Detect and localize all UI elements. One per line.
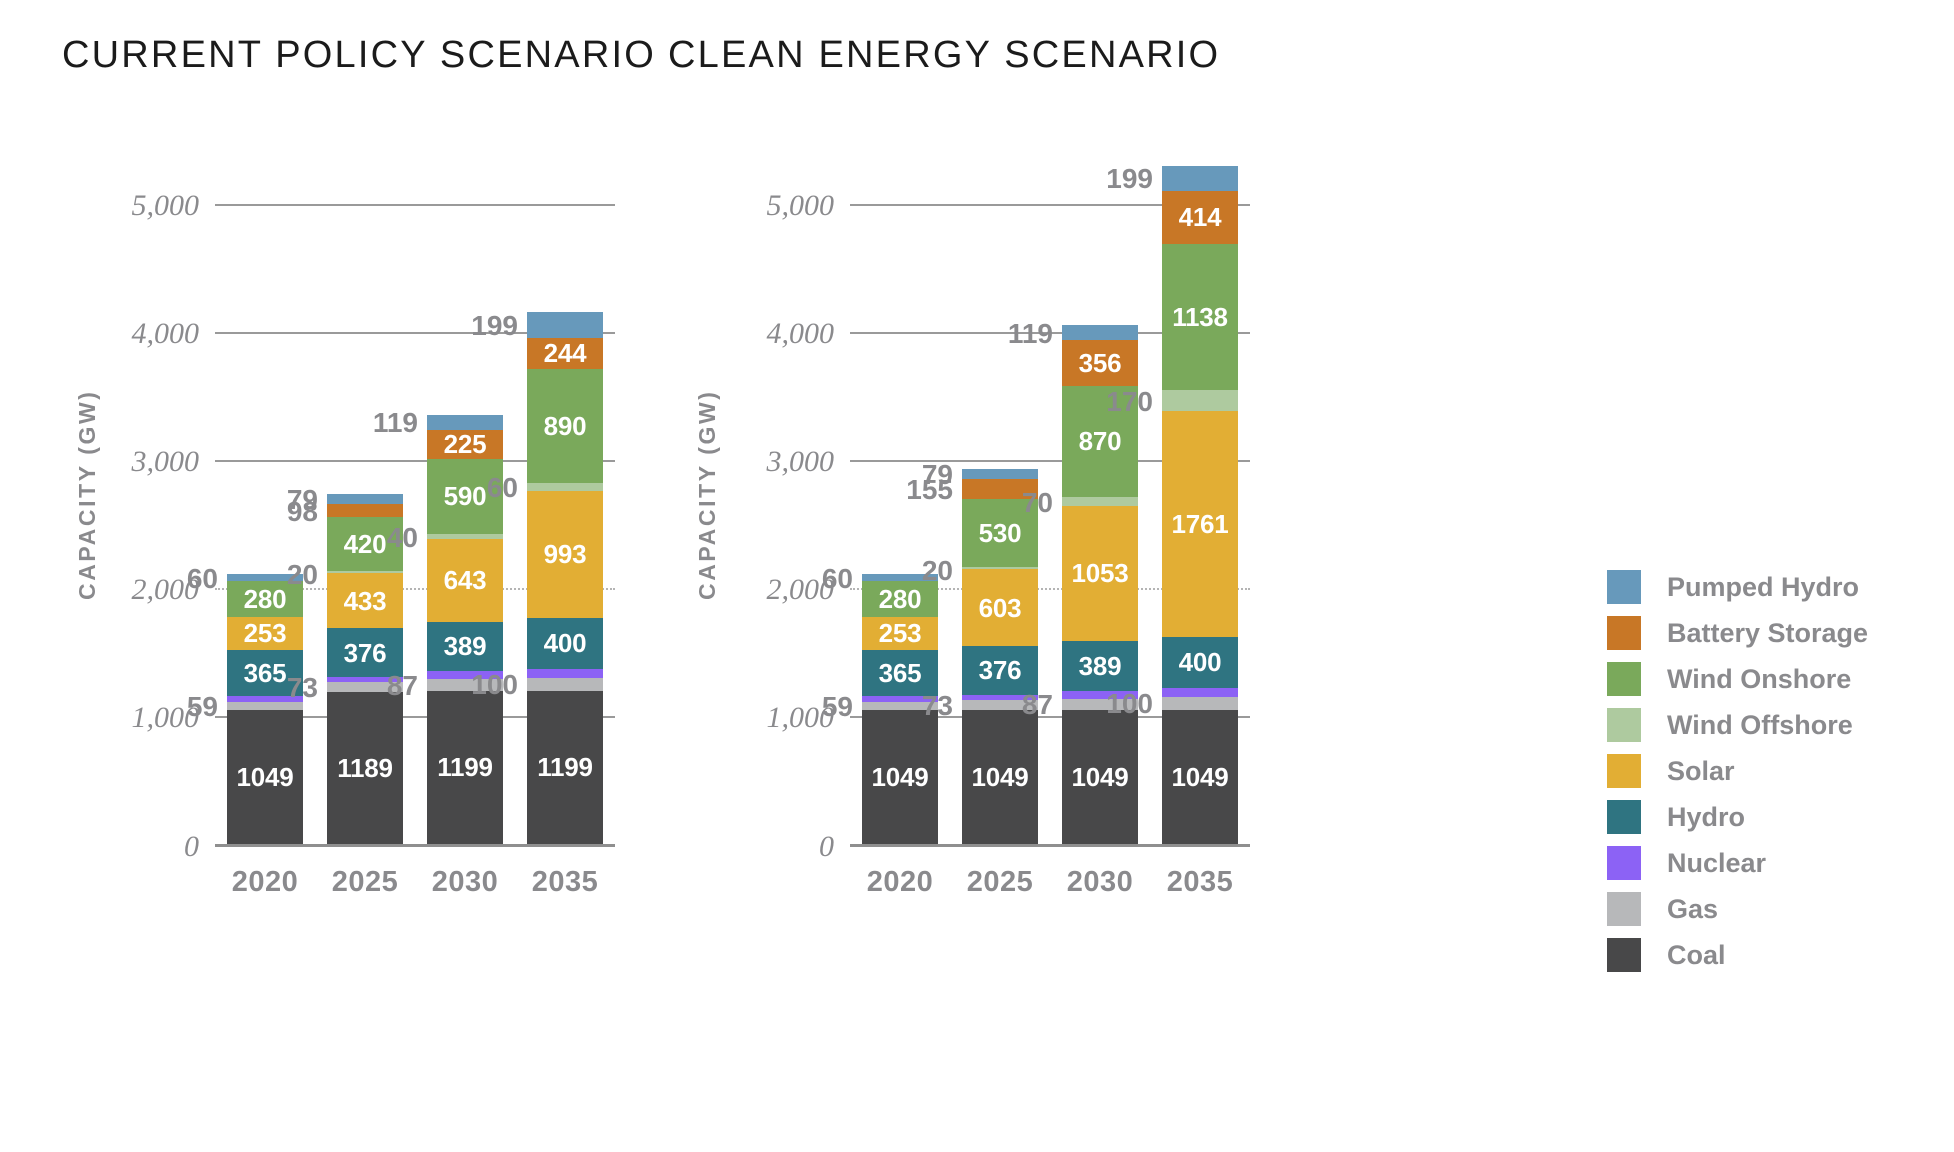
bar-segment-hydro[interactable]: 400 xyxy=(1162,637,1238,688)
segment-value-label: 376 xyxy=(344,640,387,666)
bar-segment-hydro[interactable]: 400 xyxy=(527,618,603,669)
bar-segment-battery-storage[interactable]: 244 xyxy=(527,338,603,369)
bar-segment-wind-offshore[interactable]: 20 xyxy=(962,567,1038,570)
bar-segment-wind-onshore[interactable]: 890 xyxy=(527,369,603,483)
segment-value-label: 530 xyxy=(979,520,1022,546)
legend-swatch-icon xyxy=(1607,708,1641,742)
bar-segment-pumped-hydro[interactable]: 199 xyxy=(527,312,603,337)
segment-value-label: 365 xyxy=(244,660,287,686)
bar-segment-gas[interactable]: 100 xyxy=(527,678,603,691)
bar-segment-wind-offshore[interactable]: 20 xyxy=(327,571,403,574)
segment-value-label: 1049 xyxy=(971,764,1028,790)
gridline-0: 0 xyxy=(850,844,1250,847)
segment-value-label: 1049 xyxy=(236,764,293,790)
segment-value-label: 280 xyxy=(879,586,922,612)
legend-item-wind-onshore[interactable]: Wind Onshore xyxy=(1607,656,1937,702)
legend-swatch-icon xyxy=(1607,616,1641,650)
bar-cps-2035[interactable]: 1199100400993608902441992035 xyxy=(527,312,603,844)
segment-callout-label: 87 xyxy=(1022,691,1053,719)
bar-segment-coal[interactable]: 1049 xyxy=(862,710,938,844)
bar-segment-gas[interactable]: 59 xyxy=(227,702,303,710)
segment-value-label: 993 xyxy=(544,541,587,567)
segment-value-label: 1199 xyxy=(437,754,493,780)
legend-label: Wind Offshore xyxy=(1667,710,1853,741)
segment-value-label: 414 xyxy=(1179,204,1222,230)
segment-value-label: 590 xyxy=(444,483,487,509)
bar-segment-solar[interactable]: 643 xyxy=(427,539,503,621)
legend-label: Pumped Hydro xyxy=(1667,572,1859,603)
segment-value-label: 433 xyxy=(344,588,387,614)
legend-swatch-icon xyxy=(1607,570,1641,604)
y-tick-label: 3,000 xyxy=(767,445,835,479)
bar-segment-coal[interactable]: 1049 xyxy=(1062,710,1138,844)
legend-item-coal[interactable]: Coal xyxy=(1607,932,1937,978)
bar-segment-wind-onshore[interactable]: 1138 xyxy=(1162,244,1238,390)
x-tick-label-2025: 2025 xyxy=(962,866,1038,899)
segment-value-label: 603 xyxy=(979,595,1022,621)
segment-value-label: 1049 xyxy=(1071,764,1128,790)
x-tick-label-2035: 2035 xyxy=(527,866,603,899)
bar-segment-pumped-hydro[interactable]: 119 xyxy=(1062,325,1138,340)
segment-callout-label: 59 xyxy=(822,693,853,721)
segment-callout-label: 87 xyxy=(387,672,418,700)
legend-label: Solar xyxy=(1667,756,1735,787)
segment-value-label: 420 xyxy=(344,531,387,557)
legend-item-solar[interactable]: Solar xyxy=(1607,748,1937,794)
y-tick-label: 0 xyxy=(819,830,834,864)
bar-segment-pumped-hydro[interactable]: 79 xyxy=(962,469,1038,479)
legend-item-battery-storage[interactable]: Battery Storage xyxy=(1607,610,1937,656)
segment-value-label: 1053 xyxy=(1071,560,1128,586)
segment-callout-label: 20 xyxy=(922,557,953,585)
bar-segment-wind-offshore[interactable]: 60 xyxy=(527,483,603,491)
legend-item-wind-offshore[interactable]: Wind Offshore xyxy=(1607,702,1937,748)
bar-segment-hydro[interactable]: 376 xyxy=(962,646,1038,694)
bar-segment-wind-offshore[interactable]: 40 xyxy=(427,534,503,539)
segment-value-label: 643 xyxy=(444,567,487,593)
bar-segment-solar[interactable]: 253 xyxy=(227,617,303,649)
panel-title-clean-energy: CLEAN ENERGY SCENARIO xyxy=(668,34,1220,77)
gridline-5000: 5,000 xyxy=(215,204,615,206)
segment-callout-label: 119 xyxy=(373,409,418,437)
legend-label: Gas xyxy=(1667,894,1718,925)
legend-item-nuclear[interactable]: Nuclear xyxy=(1607,840,1937,886)
segment-callout-label: 79 xyxy=(287,486,318,514)
y-tick-label: 3,000 xyxy=(132,445,200,479)
bar-segment-wind-offshore[interactable]: 170 xyxy=(1162,390,1238,412)
segment-callout-label: 70 xyxy=(1022,489,1053,517)
segment-callout-label: 100 xyxy=(1106,690,1153,718)
segment-value-label: 1189 xyxy=(337,755,393,781)
legend-item-pumped-hydro[interactable]: Pumped Hydro xyxy=(1607,564,1937,610)
segment-value-label: 253 xyxy=(244,620,287,646)
segment-callout-label: 20 xyxy=(287,561,318,589)
segment-value-label: 870 xyxy=(1079,428,1122,454)
segment-callout-label: 60 xyxy=(187,565,218,593)
panel-title-current-policy: CURRENT POLICY SCENARIO xyxy=(62,34,656,77)
segment-callout-label: 73 xyxy=(287,674,318,702)
segment-value-label: 376 xyxy=(979,657,1022,683)
plot-area-cps: 01,0002,0003,0004,0005,00010495936525328… xyxy=(215,140,615,844)
bar-segment-solar[interactable]: 993 xyxy=(527,491,603,618)
segment-value-label: 253 xyxy=(879,620,922,646)
segment-callout-label: 59 xyxy=(187,693,218,721)
y-tick-label: 5,000 xyxy=(767,189,835,223)
legend-item-hydro[interactable]: Hydro xyxy=(1607,794,1937,840)
bar-segment-coal[interactable]: 1199 xyxy=(527,691,603,844)
bar-segment-solar[interactable]: 1053 xyxy=(1062,506,1138,641)
bar-segment-solar[interactable]: 603 xyxy=(962,569,1038,646)
segment-value-label: 1138 xyxy=(1172,304,1228,330)
panel-current-policy-scenario: CURRENT POLICY SCENARIO CAPACITY (GW) 01… xyxy=(0,0,790,1152)
segment-value-label: 365 xyxy=(879,660,922,686)
bar-segment-battery-storage[interactable]: 356 xyxy=(1062,340,1138,386)
segment-callout-label: 119 xyxy=(1008,320,1053,348)
segment-callout-label: 40 xyxy=(387,524,418,552)
legend-label: Battery Storage xyxy=(1667,618,1868,649)
segment-value-label: 890 xyxy=(544,413,587,439)
bar-cps-2020[interactable]: 104959365253280602020 xyxy=(227,574,303,844)
segment-callout-label: 170 xyxy=(1106,388,1153,416)
panel-clean-energy-scenario: CLEAN ENERGY SCENARIO CAPACITY (GW) 01,0… xyxy=(790,0,1490,1152)
legend-swatch-icon xyxy=(1607,754,1641,788)
legend-swatch-icon xyxy=(1607,800,1641,834)
bar-segment-battery-storage[interactable]: 225 xyxy=(427,430,503,459)
bar-segment-hydro[interactable]: 389 xyxy=(1062,641,1138,691)
x-tick-label-2025: 2025 xyxy=(327,866,403,899)
y-tick-label: 5,000 xyxy=(132,189,200,223)
bar-ces-2025[interactable]: 10497337660320530155792025 xyxy=(962,469,1038,844)
legend-swatch-icon xyxy=(1607,662,1641,696)
segment-value-label: 389 xyxy=(444,633,487,659)
chart-page: CURRENT POLICY SCENARIO CAPACITY (GW) 01… xyxy=(0,0,1954,1152)
segment-value-label: 1199 xyxy=(537,754,593,780)
segment-callout-label: 60 xyxy=(822,565,853,593)
x-tick-label-2020: 2020 xyxy=(227,866,303,899)
bar-segment-wind-onshore[interactable]: 280 xyxy=(862,581,938,617)
bar-segment-coal[interactable]: 1189 xyxy=(327,692,403,844)
plot-area-ces: 01,0002,0003,0004,0005,00010495936525328… xyxy=(850,140,1250,844)
bar-segment-solar[interactable]: 433 xyxy=(327,573,403,628)
segment-callout-label: 199 xyxy=(1106,165,1153,193)
legend-label: Nuclear xyxy=(1667,848,1766,879)
bar-segment-pumped-hydro[interactable]: 79 xyxy=(327,494,403,504)
segment-callout-label: 73 xyxy=(922,692,953,720)
y-axis-title-ces: CAPACITY (GW) xyxy=(694,389,721,600)
legend-swatch-icon xyxy=(1607,938,1641,972)
segment-callout-label: 60 xyxy=(487,474,518,502)
y-tick-label: 4,000 xyxy=(132,317,200,351)
y-axis-title-cps: CAPACITY (GW) xyxy=(74,389,101,600)
x-tick-label-2035: 2035 xyxy=(1162,866,1238,899)
x-tick-label-2020: 2020 xyxy=(862,866,938,899)
gridline-0: 0 xyxy=(215,844,615,847)
bar-segment-battery-storage[interactable]: 98 xyxy=(327,504,403,517)
y-tick-label: 0 xyxy=(184,830,199,864)
legend-label: Hydro xyxy=(1667,802,1745,833)
segment-value-label: 389 xyxy=(1079,653,1122,679)
x-tick-label-2030: 2030 xyxy=(1062,866,1138,899)
segment-value-label: 280 xyxy=(244,586,287,612)
bar-segment-nuclear[interactable] xyxy=(1162,688,1238,697)
segment-value-label: 1049 xyxy=(871,764,928,790)
bar-segment-gas[interactable]: 100 xyxy=(1162,697,1238,710)
segment-value-label: 400 xyxy=(544,630,587,656)
bar-segment-pumped-hydro[interactable]: 199 xyxy=(1162,166,1238,191)
segment-value-label: 1049 xyxy=(1171,764,1228,790)
bar-segment-coal[interactable]: 1049 xyxy=(227,710,303,844)
bar-segment-battery-storage[interactable]: 414 xyxy=(1162,191,1238,244)
legend-label: Wind Onshore xyxy=(1667,664,1851,695)
legend-swatch-icon xyxy=(1607,846,1641,880)
segment-value-label: 400 xyxy=(1179,649,1222,675)
bar-segment-coal[interactable]: 1049 xyxy=(1162,710,1238,844)
bar-segment-solar[interactable]: 1761 xyxy=(1162,411,1238,636)
bar-segment-hydro[interactable]: 389 xyxy=(427,622,503,672)
segment-callout-label: 100 xyxy=(471,671,518,699)
legend-label: Coal xyxy=(1667,940,1726,971)
segment-value-label: 225 xyxy=(444,431,487,457)
segment-value-label: 1761 xyxy=(1171,511,1228,537)
y-tick-label: 4,000 xyxy=(767,317,835,351)
bar-segment-solar[interactable]: 253 xyxy=(862,617,938,649)
bar-segment-coal[interactable]: 1049 xyxy=(962,710,1038,844)
bar-segment-pumped-hydro[interactable]: 119 xyxy=(427,415,503,430)
segment-callout-label: 79 xyxy=(922,461,953,489)
bar-segment-nuclear[interactable] xyxy=(527,669,603,678)
bar-segment-coal[interactable]: 1199 xyxy=(427,691,503,844)
segment-value-label: 356 xyxy=(1079,350,1122,376)
bar-segment-wind-offshore[interactable]: 70 xyxy=(1062,497,1138,506)
chart-legend: Pumped HydroBattery StorageWind OnshoreW… xyxy=(1607,564,1937,978)
bar-ces-2035[interactable]: 1049100400176117011384141992035 xyxy=(1162,165,1238,844)
legend-swatch-icon xyxy=(1607,892,1641,926)
segment-value-label: 244 xyxy=(544,340,587,366)
x-tick-label-2030: 2030 xyxy=(427,866,503,899)
segment-callout-label: 199 xyxy=(471,312,518,340)
legend-item-gas[interactable]: Gas xyxy=(1607,886,1937,932)
